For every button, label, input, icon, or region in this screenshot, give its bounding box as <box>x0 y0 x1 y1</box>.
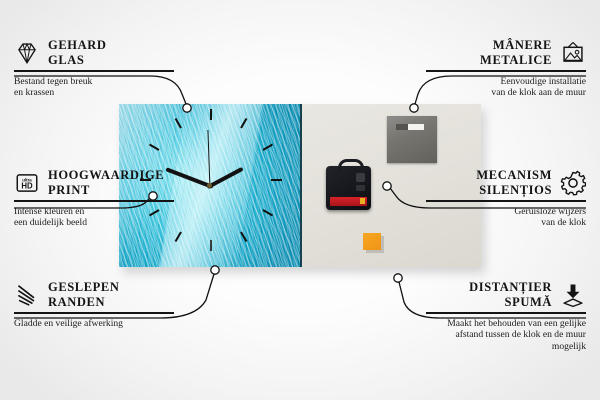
ultra-hd-icon: ultra HD <box>14 170 40 196</box>
clock-mechanism-box <box>326 166 371 210</box>
callout-manere-metalice: MÂNERE METALICE Eenvoudige installatie v… <box>426 38 586 99</box>
callout-title: MÂNERE METALICE <box>480 38 552 67</box>
mechanism-dial <box>356 173 365 182</box>
callout-description: Eenvoudige installatie van de klok aan d… <box>426 76 586 99</box>
hanger-loop <box>338 159 364 174</box>
divider <box>426 200 586 202</box>
beveled-edges-icon <box>14 282 40 308</box>
divider <box>426 70 586 72</box>
callout-description: Bestand tegen breuk en krassen <box>14 76 174 99</box>
clock-tick <box>210 109 212 120</box>
foam-spacer <box>363 233 381 250</box>
callout-title: GEHARD GLAS <box>48 38 106 67</box>
callout-hoogwaardige-print: ultra HD HOOGWAARDIGE PRINT Intense kleu… <box>14 168 174 229</box>
mechanism-dial-secondary <box>356 185 365 191</box>
divider <box>14 200 174 202</box>
callout-title: DISTANȚIER SPUMĂ <box>469 280 552 309</box>
callout-description: Intense kleuren en een duidelijk beeld <box>14 206 174 229</box>
leader-dot <box>394 274 402 282</box>
diamond-icon <box>14 40 40 66</box>
divider <box>14 70 174 72</box>
callout-description: Maakt het behouden van een gelijke afsta… <box>426 318 586 353</box>
infographic-canvas: GEHARD GLAS Bestand tegen breuk en krass… <box>0 0 600 400</box>
gear-icon <box>560 170 586 196</box>
center-pin <box>207 183 212 188</box>
callout-mecanism-silentios: MECANISM SILENȚIOS Geruisloze wijzers va… <box>426 168 586 229</box>
clock-tick <box>210 240 212 251</box>
callout-description: Geruisloze wijzers van de klok <box>426 206 586 229</box>
callout-distantier-spuma: DISTANȚIER SPUMĂ Maakt het behouden van … <box>426 280 586 352</box>
svg-text:HD: HD <box>21 181 33 190</box>
callout-geslepen-randen: GESLEPEN RANDEN Gladde en veilige afwerk… <box>14 280 174 329</box>
divider <box>14 312 174 314</box>
spacer-press-icon <box>560 282 586 308</box>
divider <box>426 312 586 314</box>
callout-description: Gladde en veilige afwerking <box>14 318 174 330</box>
battery <box>330 197 367 206</box>
callout-title: HOOGWAARDIGE PRINT <box>48 168 164 197</box>
callout-title: GESLEPEN RANDEN <box>48 280 120 309</box>
metal-hanger-plate <box>387 116 437 163</box>
callout-title: MECANISM SILENȚIOS <box>476 168 552 197</box>
clock-tick <box>271 179 282 181</box>
picture-hanger-icon <box>560 40 586 66</box>
callout-gehard-glas: GEHARD GLAS Bestand tegen breuk en krass… <box>14 38 174 99</box>
